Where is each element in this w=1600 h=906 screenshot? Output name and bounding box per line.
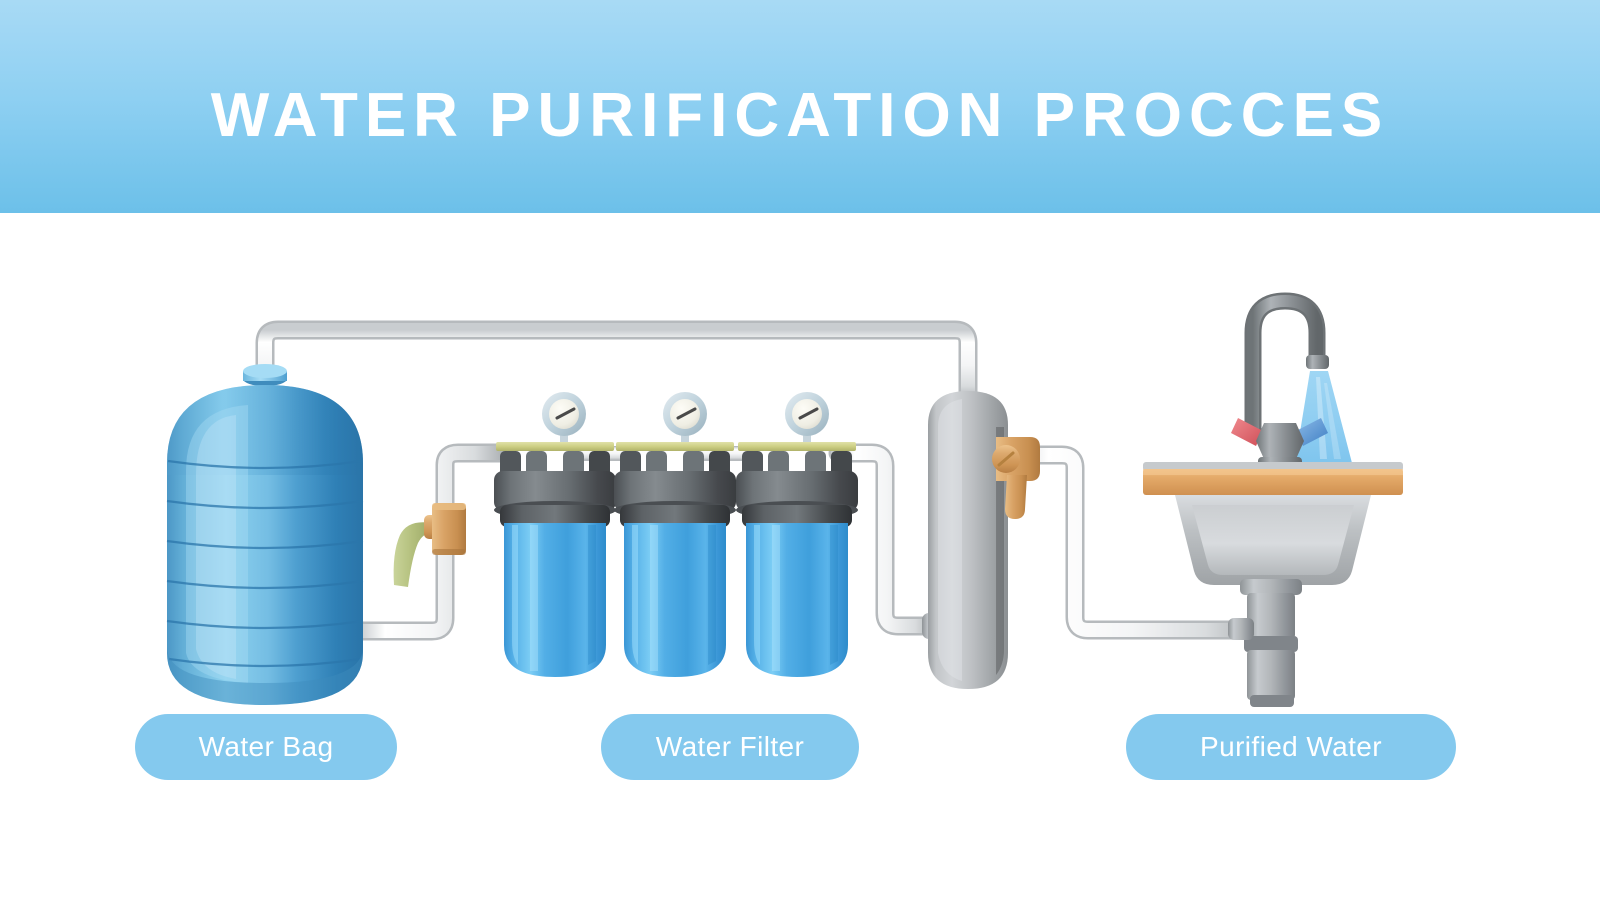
- label-pill-water-bag[interactable]: Water Bag: [135, 714, 397, 780]
- infographic-canvas: WATER PURIFICATION PROCCES: [0, 0, 1600, 906]
- carbon-pressure-tank[interactable]: [922, 391, 1008, 689]
- bag-outlet-valve[interactable]: [394, 503, 466, 587]
- cap-plate: [738, 442, 856, 451]
- filter-cartridge-3[interactable]: [736, 392, 858, 677]
- process-diagram: [0, 213, 1600, 906]
- page-title: WATER PURIFICATION PROCCES: [0, 0, 1600, 213]
- sink-assembly[interactable]: [1143, 301, 1403, 707]
- filter-cartridge-1[interactable]: [494, 392, 616, 677]
- filter-cartridge-2[interactable]: [614, 392, 736, 677]
- water-bag-tank[interactable]: [167, 364, 363, 705]
- valve-lever-handle[interactable]: [1005, 475, 1027, 519]
- faucet[interactable]: [1231, 301, 1352, 469]
- header-banner: WATER PURIFICATION PROCCES: [0, 0, 1600, 213]
- valve-body: [432, 503, 466, 555]
- pipe-bag-to-tank-top: [265, 330, 968, 398]
- drain-side-inlet: [1228, 618, 1254, 640]
- faucet-base: [1256, 423, 1304, 459]
- drain-pipe: [1228, 579, 1302, 707]
- cap-plate: [496, 442, 614, 451]
- basin-inner: [1192, 505, 1354, 575]
- pipe-bag-to-filter-1: [360, 453, 500, 631]
- label-pill-water-filter[interactable]: Water Filter: [601, 714, 859, 780]
- label-pill-purified-water[interactable]: Purified Water: [1126, 714, 1456, 780]
- cap-plate: [616, 442, 734, 451]
- faucet-aerator: [1306, 355, 1329, 369]
